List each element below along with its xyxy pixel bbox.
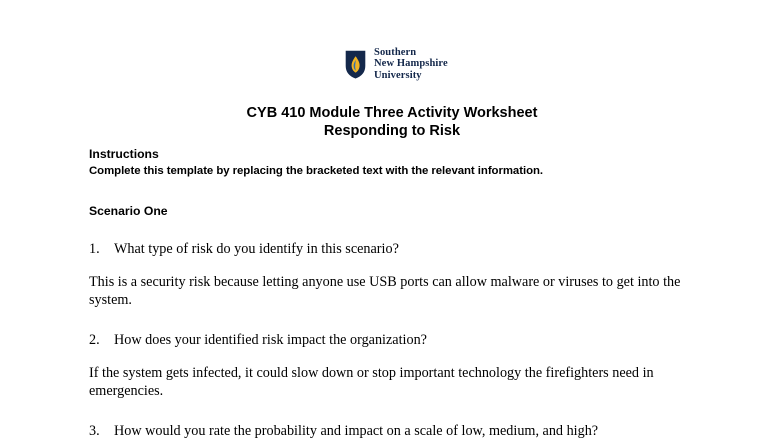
question-number: 3. <box>89 423 114 440</box>
question-text: How does your identified risk impact the… <box>114 332 693 349</box>
answer-1[interactable]: This is a security risk because letting … <box>89 274 690 309</box>
question-1: 1. What type of risk do you identify in … <box>89 241 693 258</box>
question-answer-item: 1. What type of risk do you identify in … <box>89 241 693 309</box>
snhu-shield-flame-icon <box>344 49 367 80</box>
scenario-one-heading: Scenario One <box>89 204 693 219</box>
question-number: 2. <box>89 332 114 349</box>
question-3: 3. How would you rate the probability an… <box>89 423 693 440</box>
wordmark-line-2: New Hampshire <box>374 58 448 69</box>
instructions-text: Complete this template by replacing the … <box>89 164 693 178</box>
wordmark-line-1: Southern <box>374 47 448 58</box>
snhu-logo: Southern New Hampshire University <box>344 47 448 81</box>
page-title-line-1: CYB 410 Module Three Activity Worksheet <box>0 105 784 123</box>
document-page: Southern New Hampshire University CYB 41… <box>0 0 784 441</box>
question-number: 1. <box>89 241 114 258</box>
document-body: Instructions Complete this template by r… <box>89 147 693 440</box>
instructions-heading: Instructions <box>89 147 693 162</box>
question-text: How would you rate the probability and i… <box>114 423 693 440</box>
question-answer-item: 3. How would you rate the probability an… <box>89 423 693 440</box>
page-title: CYB 410 Module Three Activity Worksheet … <box>0 105 784 140</box>
question-answer-item: 2. How does your identified risk impact … <box>89 332 693 400</box>
question-text: What type of risk do you identify in thi… <box>114 241 693 258</box>
snhu-wordmark: Southern New Hampshire University <box>374 47 448 81</box>
page-title-line-2: Responding to Risk <box>0 123 784 141</box>
answer-2[interactable]: If the system gets infected, it could sl… <box>89 365 690 400</box>
question-2: 2. How does your identified risk impact … <box>89 332 693 349</box>
wordmark-line-3: University <box>374 70 448 81</box>
